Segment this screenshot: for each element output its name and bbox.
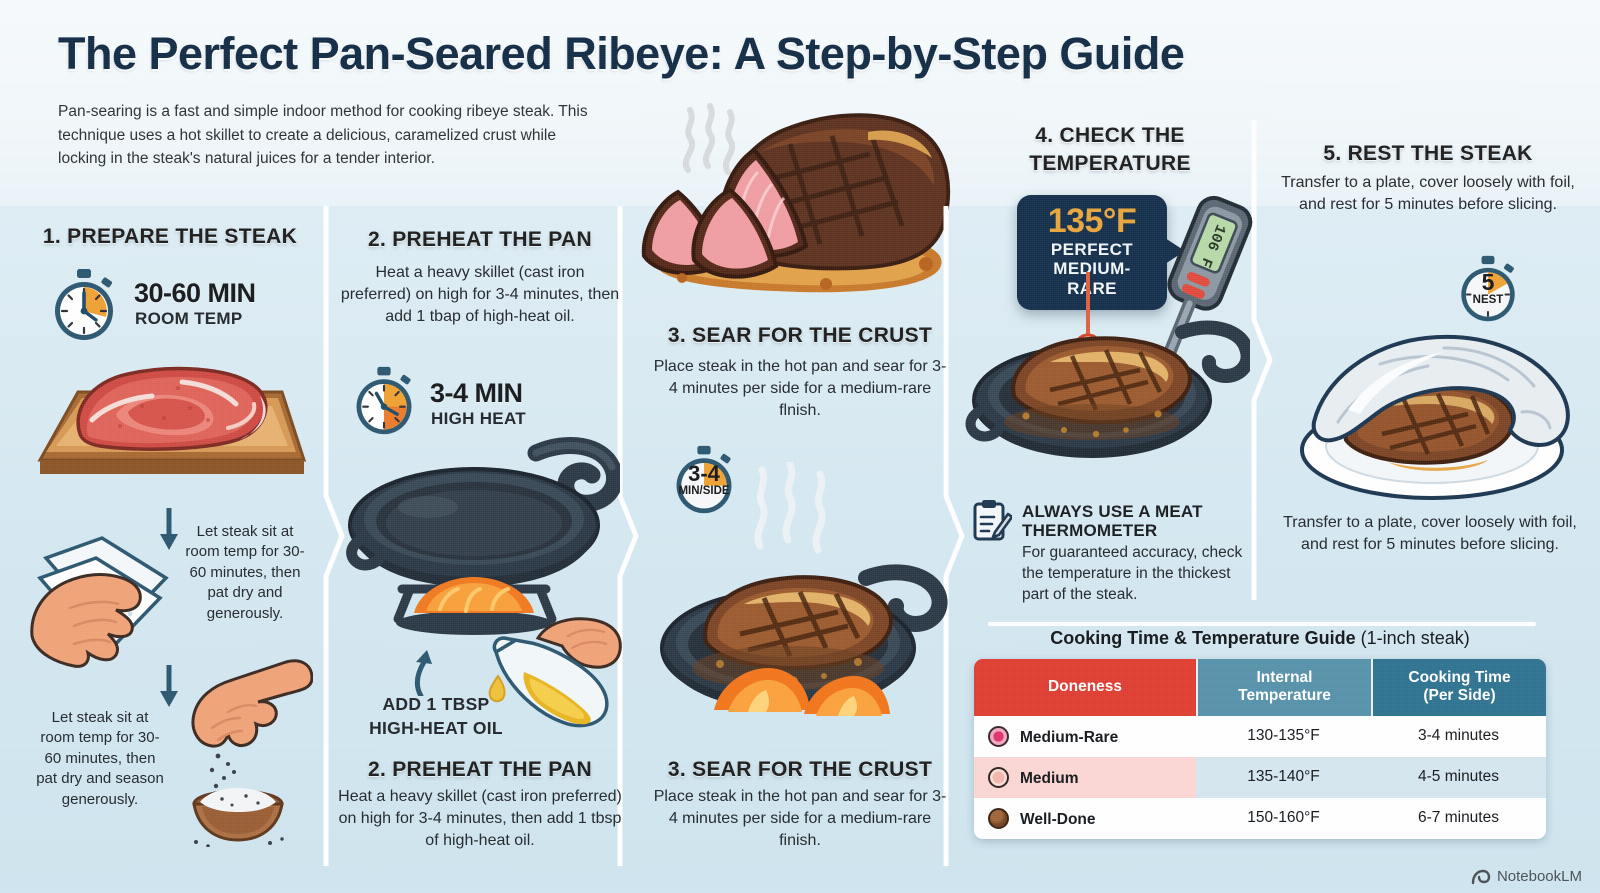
intro-paragraph: Pan-searing is a fast and simple indoor …	[58, 100, 588, 171]
steak-in-skillet-with-thermometer-illustration	[960, 288, 1250, 488]
step-2-footer-body: Heat a heavy skillet (cast iron preferre…	[334, 786, 626, 852]
notebooklm-watermark: NotebookLM	[1471, 868, 1582, 885]
flow-arrow-up-oil	[408, 650, 434, 696]
header-temp-line1: Internal	[1204, 669, 1365, 687]
raw-steak-on-cutting-board-illustration	[32, 348, 312, 500]
step-3-body: Place steak in the hot pan and sear for …	[650, 356, 950, 422]
oil-bottle-pouring-illustration	[482, 616, 622, 741]
row-temperature-cell: 130-135°F	[1196, 716, 1371, 757]
table-header-doneness: Doneness	[974, 659, 1196, 716]
step-2-heading: 2. PREHEAT THE PAN	[330, 228, 630, 252]
step-3-footer-body: Place steak in the hot pan and sear for …	[650, 786, 950, 852]
row-temperature-cell: 150-160°F	[1196, 798, 1371, 839]
tip-heading-line2: THERMOMETER	[1022, 521, 1252, 541]
cooking-guide-table: Doneness Internal Temperature Cooking Ti…	[974, 659, 1546, 839]
resting-steak-plate-foil-illustration	[1284, 318, 1584, 508]
row-doneness-label: Well-Done	[1020, 811, 1096, 828]
step-1-note-2: Let steak sit at room temp for 30-60 min…	[36, 708, 164, 810]
clipboard-pencil-icon	[972, 500, 1012, 542]
table-row: Medium-Rare 130-135°F 3-4 minutes	[974, 716, 1546, 757]
step-3-footer-heading: 3. SEAR FOR THE CRUST	[640, 758, 960, 782]
header-time-line2: (Per Side)	[1379, 687, 1540, 705]
step-4-heading-line1: 4. CHECK THE	[960, 124, 1260, 148]
step-5-badge-value: 5	[1453, 269, 1523, 296]
table-title-main: Cooking Time & Temperature Guide	[1050, 628, 1355, 648]
table-header-time: Cooking Time (Per Side)	[1371, 659, 1546, 716]
row-doneness-label: Medium-Rare	[1020, 729, 1118, 746]
row-doneness-label: Medium	[1020, 770, 1079, 787]
row-doneness-cell: Medium	[974, 757, 1196, 798]
tip-heading-line1: ALWAYS USE A MEAT	[1022, 502, 1252, 522]
table-header-row: Doneness Internal Temperature Cooking Ti…	[974, 659, 1546, 716]
table-row: Well-Done 150-160°F 6-7 minutes	[974, 798, 1546, 839]
row-time-cell: 4-5 minutes	[1371, 757, 1546, 798]
step-5-body: Transfer to a plate, cover loosely with …	[1280, 172, 1576, 216]
table-row: Medium 135-140°F 4-5 minutes	[974, 757, 1546, 798]
step-2-footer-heading: 2. PREHEAT THE PAN	[330, 758, 630, 782]
step-5-heading: 5. REST THE STEAK	[1268, 142, 1588, 166]
timer-icon-30-60-min	[46, 267, 122, 343]
row-doneness-cell: Medium-Rare	[974, 716, 1196, 757]
watermark-label: NotebookLM	[1497, 868, 1582, 885]
table-title: Cooking Time & Temperature Guide (1-inch…	[964, 628, 1556, 649]
doneness-dot-medium-rare-icon	[988, 726, 1009, 747]
step-1-heading: 1. PREPARE THE STEAK	[20, 225, 320, 249]
step-1-note-1: Let steak sit at room temp for 30-60 min…	[180, 522, 310, 624]
tip-body: For guaranteed accuracy, check the tempe…	[1022, 542, 1250, 605]
row-time-cell: 6-7 minutes	[1371, 798, 1546, 839]
doneness-dot-medium-icon	[988, 767, 1009, 788]
empty-skillet-on-burner-illustration	[340, 405, 620, 645]
seasoning-hand-and-salt-bowl-illustration	[168, 652, 313, 847]
row-time-cell: 3-4 minutes	[1371, 716, 1546, 757]
notebooklm-logo-icon	[1471, 869, 1491, 885]
cooking-guide-panel: Cooking Time & Temperature Guide (1-inch…	[964, 612, 1556, 870]
table-header-temperature: Internal Temperature	[1196, 659, 1371, 716]
table-title-note: (1-inch steak)	[1356, 628, 1470, 648]
hero-sliced-steak-illustration	[620, 88, 960, 310]
pat-dry-hand-illustration	[30, 516, 180, 671]
row-doneness-cell: Well-Done	[974, 798, 1196, 839]
step-5-badge-label: NEST	[1453, 294, 1523, 306]
step-3-heading: 3. SEAR FOR THE CRUST	[640, 324, 960, 348]
searing-steak-skillet-illustration	[648, 462, 948, 762]
step-1-timer-label: ROOM TEMP	[135, 309, 243, 329]
infographic-poster: The Perfect Pan-Seared Ribeye: A Step-by…	[0, 0, 1600, 893]
page-title: The Perfect Pan-Seared Ribeye: A Step-by…	[58, 28, 1528, 80]
row-temperature-cell: 135-140°F	[1196, 757, 1371, 798]
header-time-line1: Cooking Time	[1379, 669, 1540, 687]
step-2-body: Heat a heavy skillet (cast iron preferre…	[340, 262, 620, 328]
step-4-heading-line2: TEMPERATURE	[960, 152, 1260, 176]
step-1-timer-value: 30-60 MIN	[134, 278, 256, 309]
step-5-footer-body: Transfer to a plate, cover loosely with …	[1282, 512, 1578, 556]
header-temp-line2: Temperature	[1204, 687, 1365, 705]
doneness-dot-well-done-icon	[988, 808, 1009, 829]
